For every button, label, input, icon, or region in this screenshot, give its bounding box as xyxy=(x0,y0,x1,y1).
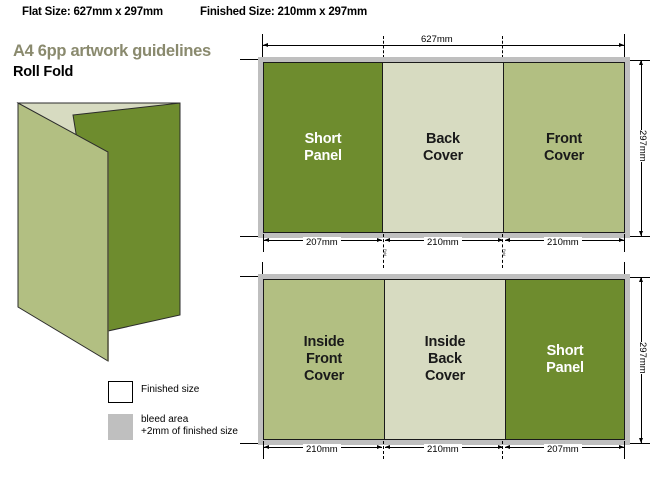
panel-label-line1: Inside xyxy=(425,334,466,351)
diagram-inside: Inside Front Cover Inside Back Cover Sho… xyxy=(0,0,656,485)
fold-tick-bottom-1 xyxy=(383,441,384,459)
dim-arrow-p1l-inside xyxy=(264,445,269,449)
fold-tick-bottom-2 xyxy=(502,441,503,459)
dim-label-panel3-inside: 207mm xyxy=(544,444,582,455)
panel-label: Short Panel xyxy=(546,343,584,377)
panel-inside-back-cover: Inside Back Cover xyxy=(384,279,506,440)
panel-label-line3: Cover xyxy=(304,368,345,385)
panel-label-line3: Cover xyxy=(425,368,466,385)
dim-arrow-p3l-inside xyxy=(505,445,510,449)
dim-label-height-inside: 297mm xyxy=(637,342,648,374)
dim-ext-p-right-inside xyxy=(624,441,625,459)
dim-ext-bot-inside xyxy=(630,443,650,444)
panel-label-line2: Front xyxy=(304,351,345,368)
dim-label-panel2-inside: 210mm xyxy=(424,444,462,455)
panel-label-line1: Inside xyxy=(304,334,345,351)
panel-group-inside: Inside Front Cover Inside Back Cover Sho… xyxy=(263,279,625,440)
panel-label-line2: Back xyxy=(425,351,466,368)
panel-label-line2: Panel xyxy=(546,360,584,377)
dim-ext-p-left-inside xyxy=(263,441,264,459)
dim-label-panel1-inside: 210mm xyxy=(303,444,341,455)
dim-arrow-p2l-inside xyxy=(385,445,390,449)
panel-label-line1: Short xyxy=(546,343,584,360)
panel-label: Inside Front Cover xyxy=(304,334,345,385)
dim-ext-top-inside xyxy=(630,277,650,278)
panel-inside-front-cover: Inside Front Cover xyxy=(263,279,385,440)
panel-short-panel-inside: Short Panel xyxy=(505,279,625,440)
dim-arrow-p1r-inside xyxy=(377,445,382,449)
panel-label: Inside Back Cover xyxy=(425,334,466,385)
